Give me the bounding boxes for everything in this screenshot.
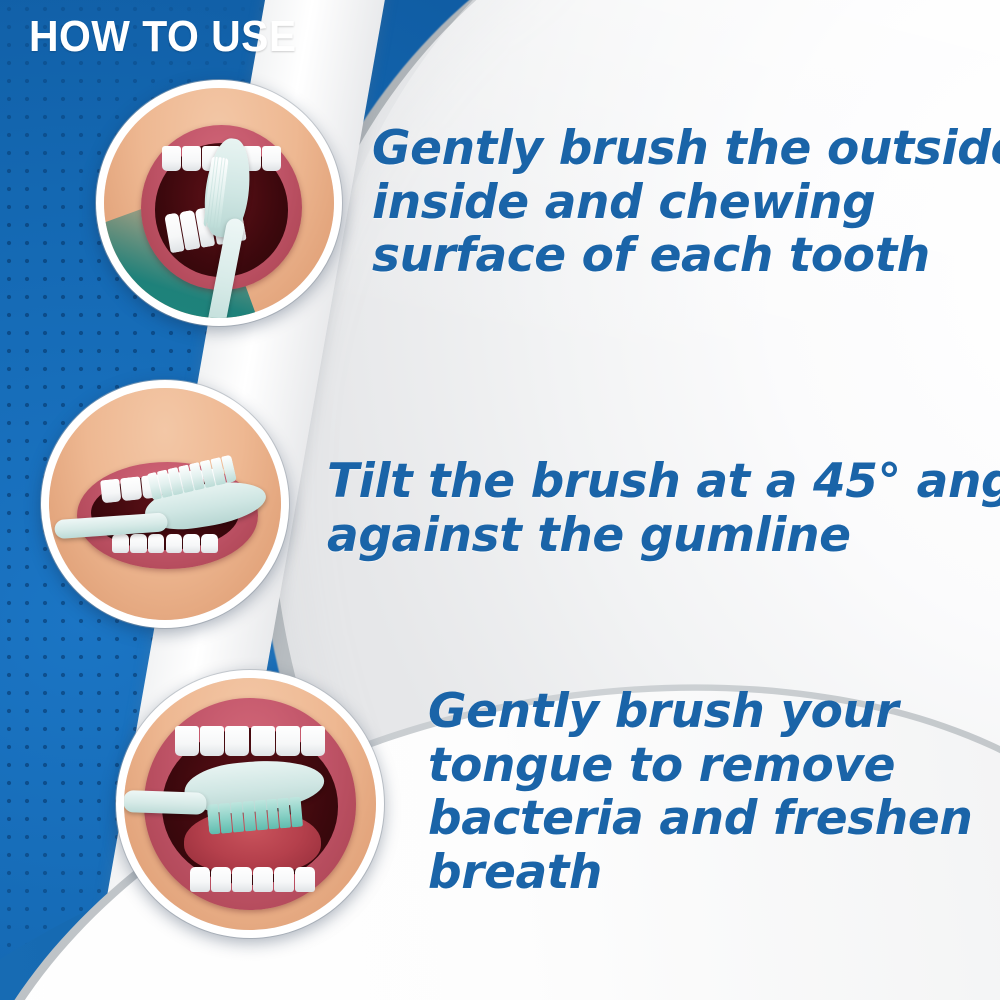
- how-to-use-infographic: HOW TO USE: [0, 0, 1000, 1000]
- step-2-line-2: against the gumline: [327, 509, 987, 563]
- step-3-text: Gently brush your tongue to remove bacte…: [428, 685, 948, 899]
- step-3-line-2: tongue to remove: [428, 739, 948, 793]
- toothbrush-3: [124, 755, 334, 858]
- lower-teeth-3: [190, 867, 316, 892]
- upper-teeth-3: [174, 726, 325, 756]
- step-3-photo: [116, 670, 384, 938]
- step-1-text: Gently brush the outside, inside and che…: [372, 122, 982, 283]
- step-3-line-4: breath: [428, 846, 948, 900]
- step-1-photo: [96, 80, 342, 326]
- step-3-line-1: Gently brush your: [428, 685, 948, 739]
- step-2-text: Tilt the brush at a 45° angle against th…: [327, 455, 987, 562]
- page-title: HOW TO USE: [29, 12, 297, 62]
- brush-handle-3: [124, 790, 206, 815]
- step-2-line-1: Tilt the brush at a 45° angle: [327, 455, 987, 509]
- step-2-image: [49, 388, 281, 620]
- brush-handle-2: [54, 512, 168, 539]
- mouth-illustration-1: [104, 88, 334, 318]
- step-1-line-3: surface of each tooth: [372, 229, 982, 283]
- step-2-photo: [41, 380, 289, 628]
- step-1-image: [104, 88, 334, 318]
- mouth-illustration-3: [124, 678, 376, 930]
- mouth-illustration-2: [49, 388, 281, 620]
- step-3-line-3: bacteria and freshen: [428, 792, 948, 846]
- step-3-image: [124, 678, 376, 930]
- step-1-line-1: Gently brush the outside,: [372, 122, 982, 176]
- step-1-line-2: inside and chewing: [372, 176, 982, 230]
